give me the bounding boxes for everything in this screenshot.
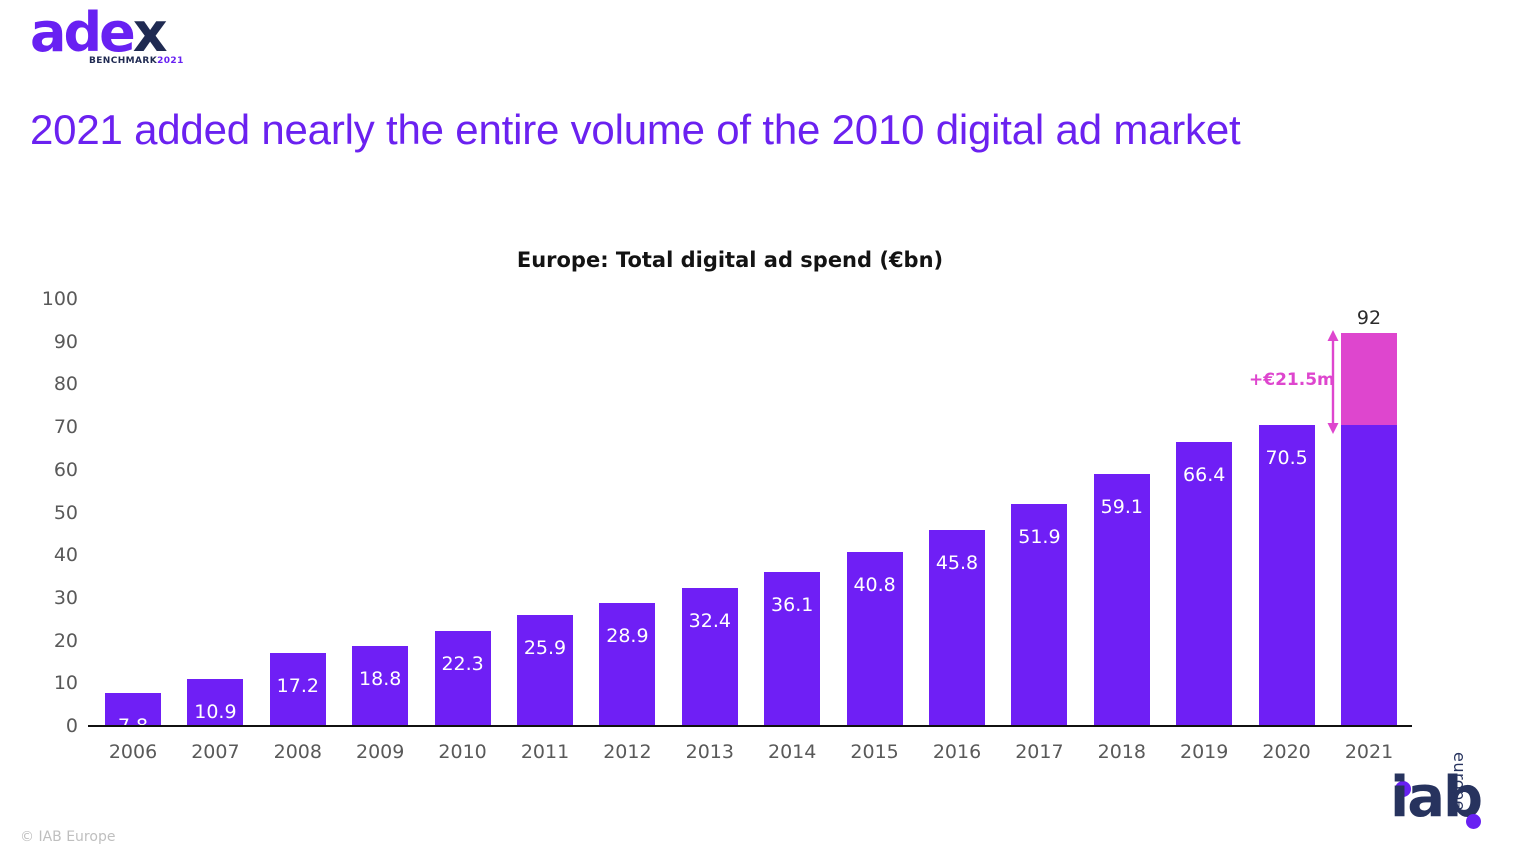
delta-arrow-icon <box>1322 330 1344 434</box>
x-axis-tick: 2014 <box>747 741 837 763</box>
bar-value-label: 66.4 <box>1176 464 1232 486</box>
bar-segment-base[interactable] <box>435 631 491 726</box>
iab-dot-end-icon <box>1466 814 1481 829</box>
bar-value-label: 92 <box>1341 307 1397 329</box>
y-axis-tick: 80 <box>16 373 78 395</box>
x-axis-tick: 2009 <box>335 741 425 763</box>
bar-value-label: 36.1 <box>764 594 820 616</box>
bar-value-label: 40.8 <box>847 574 903 596</box>
bar-value-label: 25.9 <box>517 637 573 659</box>
y-axis-tick: 10 <box>16 672 78 694</box>
y-axis-tick: 70 <box>16 416 78 438</box>
iab-region-label: europe <box>1450 752 1469 811</box>
x-axis-tick: 2006 <box>88 741 178 763</box>
x-axis-line <box>88 725 1412 727</box>
bar-column[interactable] <box>435 631 491 726</box>
bar-value-label: 59.1 <box>1094 496 1150 518</box>
y-axis-tick: 90 <box>16 331 78 353</box>
x-axis-tick: 2020 <box>1242 741 1332 763</box>
chart-plot-area: 7.810.917.218.822.325.928.932.436.140.84… <box>88 290 1412 726</box>
bar-column[interactable] <box>599 603 655 726</box>
x-axis-tick: 2016 <box>912 741 1002 763</box>
x-axis-tick: 2008 <box>253 741 343 763</box>
adex-tagline: BENCHMARK2021 <box>89 56 190 66</box>
y-axis-tick: 0 <box>16 715 78 737</box>
y-axis-tick: 40 <box>16 544 78 566</box>
x-axis-tick: 2010 <box>418 741 508 763</box>
adex-tagline-year: 2021 <box>157 56 184 66</box>
copyright-notice: © IAB Europe <box>20 829 115 845</box>
bar-value-label: 17.2 <box>270 675 326 697</box>
x-axis-tick: 2013 <box>665 741 755 763</box>
bar-value-label: 51.9 <box>1011 526 1067 548</box>
x-axis-tick: 2012 <box>582 741 672 763</box>
x-axis-tick: 2011 <box>500 741 590 763</box>
bar-segment-base[interactable] <box>682 588 738 726</box>
bar-column[interactable] <box>682 588 738 726</box>
bar-segment-base[interactable] <box>517 615 573 726</box>
bar-segment-base[interactable] <box>1341 425 1397 726</box>
x-axis-tick: 2019 <box>1159 741 1249 763</box>
bar-column[interactable] <box>1341 333 1397 726</box>
x-axis-tick: 2021 <box>1324 741 1414 763</box>
bar-value-label: 28.9 <box>599 625 655 647</box>
bar-segment-increment[interactable] <box>1341 333 1397 425</box>
y-axis: 1009080706050403020100 <box>10 0 78 845</box>
bar-value-label: 45.8 <box>929 552 985 574</box>
y-axis-tick: 100 <box>16 288 78 310</box>
page-title: 2021 added nearly the entire volume of t… <box>30 106 1240 154</box>
bar-segment-base[interactable] <box>599 603 655 726</box>
bar-value-label: 10.9 <box>187 701 243 723</box>
bar-column[interactable] <box>1259 425 1315 726</box>
x-axis-tick: 2018 <box>1077 741 1167 763</box>
y-axis-tick: 30 <box>16 587 78 609</box>
adex-tagline-benchmark: BENCHMARK <box>89 56 157 66</box>
x-axis-tick: 2017 <box>994 741 1084 763</box>
y-axis-tick: 60 <box>16 459 78 481</box>
x-axis-tick: 2015 <box>830 741 920 763</box>
y-axis-tick: 20 <box>16 630 78 652</box>
bar-value-label: 22.3 <box>435 653 491 675</box>
bar-value-label: 18.8 <box>352 668 408 690</box>
x-axis-tick: 2007 <box>170 741 260 763</box>
adex-wordmark-x: x <box>133 1 165 64</box>
chart-title: Europe: Total digital ad spend (€bn) <box>0 248 1460 272</box>
bar-value-label: 32.4 <box>682 610 738 632</box>
y-axis-tick: 50 <box>16 502 78 524</box>
bar-segment-base[interactable] <box>1259 425 1315 726</box>
bar-column[interactable] <box>517 615 573 726</box>
bar-value-label: 70.5 <box>1259 447 1315 469</box>
